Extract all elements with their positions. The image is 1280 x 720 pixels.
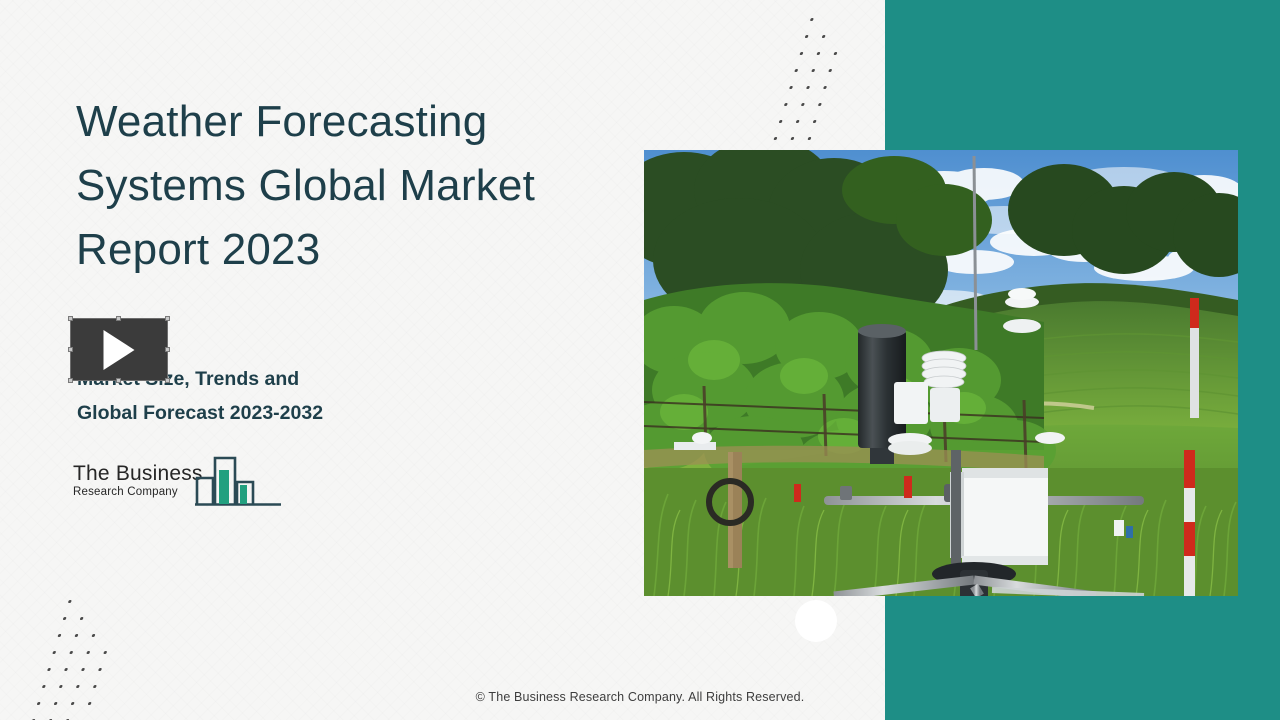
circle-accent-icon bbox=[795, 600, 837, 642]
logo-line-2: Research Company bbox=[73, 485, 203, 499]
resize-handle[interactable] bbox=[165, 378, 170, 383]
logo-line-1: The Business bbox=[73, 462, 203, 485]
resize-handle[interactable] bbox=[165, 347, 170, 352]
bar-chart-logo-icon bbox=[195, 452, 283, 512]
play-triangle-icon bbox=[104, 330, 135, 370]
play-icon[interactable] bbox=[70, 318, 168, 381]
resize-handle[interactable] bbox=[68, 378, 73, 383]
logo-wordmark: The Business Research Company bbox=[73, 462, 203, 499]
weather-station-photo bbox=[644, 150, 1238, 596]
slide-canvas: Weather Forecasting Systems Global Marke… bbox=[0, 0, 1280, 720]
resize-handle[interactable] bbox=[68, 316, 73, 321]
company-logo[interactable]: The Business Research Company bbox=[70, 452, 282, 514]
resize-handle[interactable] bbox=[165, 316, 170, 321]
resize-handle[interactable] bbox=[116, 316, 121, 321]
footer-copyright: © The Business Research Company. All Rig… bbox=[0, 690, 1280, 704]
page-title: Weather Forecasting Systems Global Marke… bbox=[76, 90, 616, 281]
resize-handle[interactable] bbox=[68, 347, 73, 352]
footer-text: © The Business Research Company. All Rig… bbox=[476, 690, 805, 704]
subtitle-line-2: Global Forecast 2023-2032 bbox=[77, 397, 547, 431]
resize-handle[interactable] bbox=[116, 378, 121, 383]
